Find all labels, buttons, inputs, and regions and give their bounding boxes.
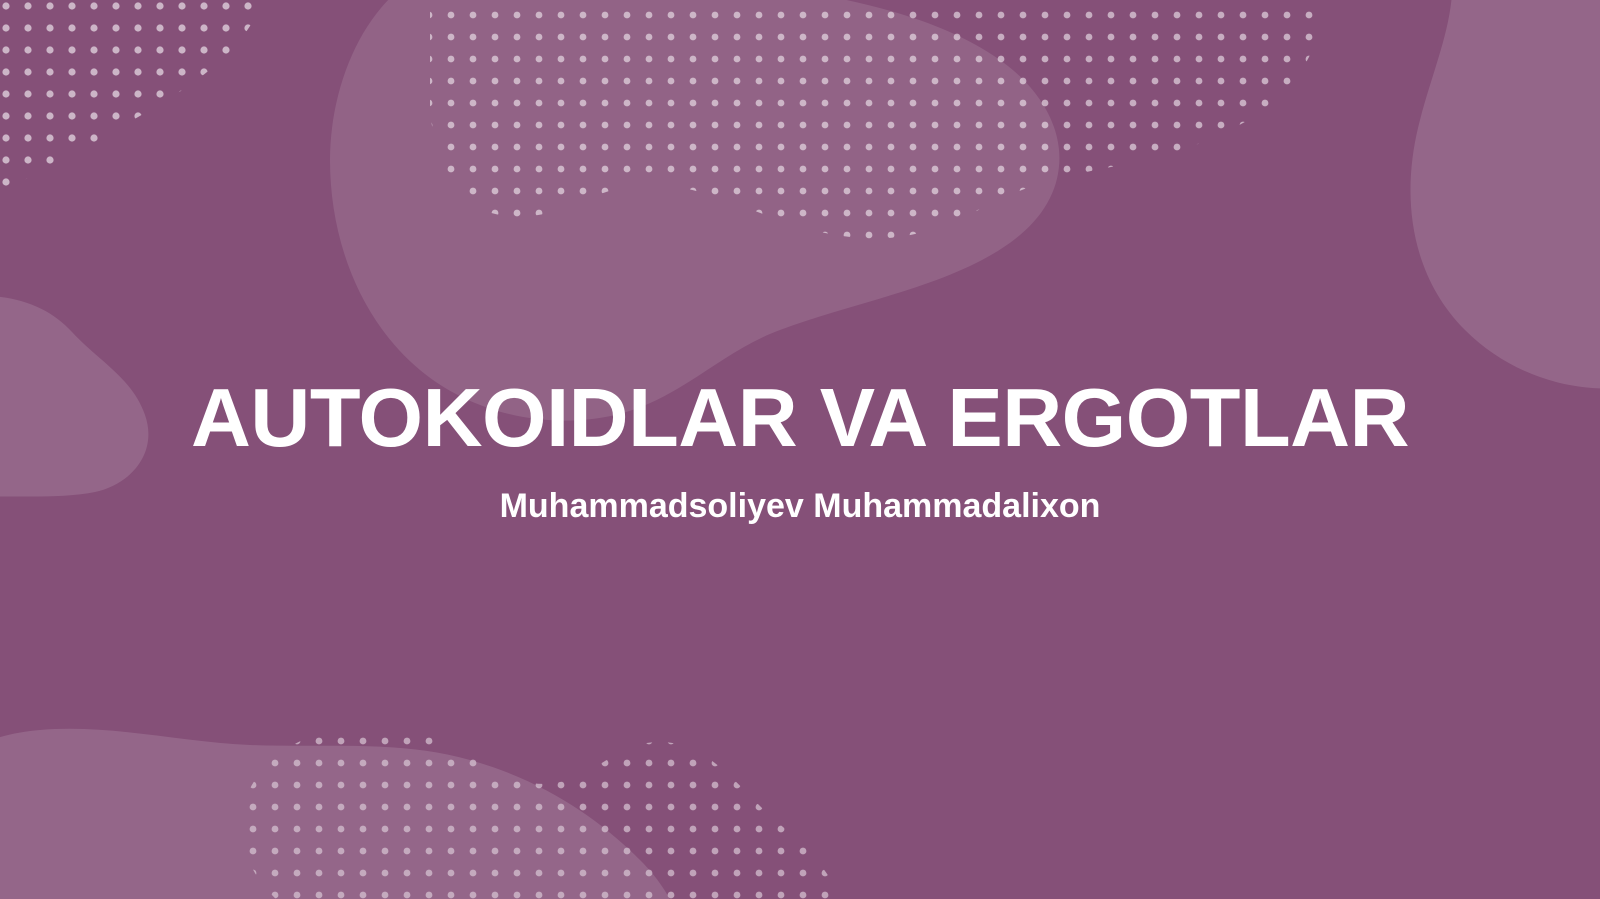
slide-content: AUTOKOIDLAR VA ERGOTLAR Muhammadsoliyev … [0, 0, 1600, 899]
slide-title: AUTOKOIDLAR VA ERGOTLAR [191, 376, 1409, 461]
presentation-slide: AUTOKOIDLAR VA ERGOTLAR Muhammadsoliyev … [0, 0, 1600, 899]
slide-subtitle: Muhammadsoliyev Muhammadalixon [500, 489, 1101, 523]
